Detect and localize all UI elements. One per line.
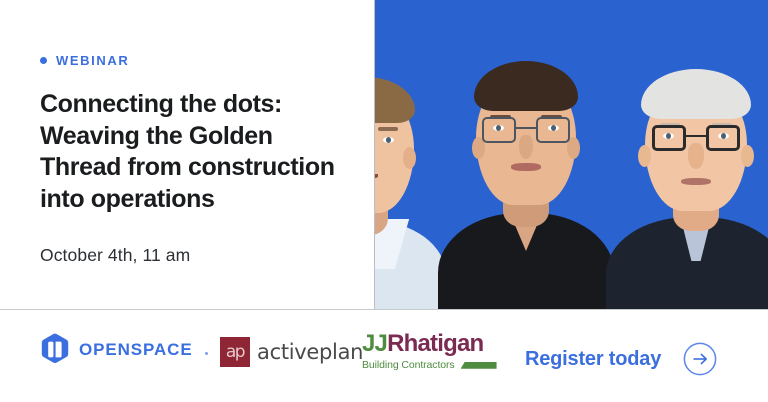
speaker-nose <box>688 143 704 169</box>
speaker-nose <box>519 135 533 159</box>
activeplan-wordmark: activeplan <box>257 342 363 363</box>
headline-line-3: Thread from construction <box>40 152 360 184</box>
speaker-mouth <box>681 178 711 185</box>
speaker-ear-right <box>403 147 416 169</box>
arrow-right-circle-icon[interactable] <box>683 342 717 376</box>
rhatigan-prefix: JJ <box>362 330 387 357</box>
speaker-glasses-left <box>652 125 686 151</box>
speaker-photo-center <box>438 39 614 309</box>
speaker-brow-right <box>378 127 398 131</box>
register-label: Register today <box>525 349 661 369</box>
speaker-photo-panel <box>374 0 768 309</box>
footer-bar: OPENSPACE ap activeplan JJRhatigan Build… <box>0 310 768 402</box>
speaker-eye-right <box>383 137 394 143</box>
hero-section: WEBINAR Connecting the dots: Weaving the… <box>0 0 768 309</box>
speaker-hair <box>474 61 578 111</box>
logo-openspace: OPENSPACE <box>40 333 208 366</box>
headline-line-4: into operations <box>40 184 360 216</box>
hero-text-block: WEBINAR Connecting the dots: Weaving the… <box>40 54 360 266</box>
speaker-hair <box>641 69 751 119</box>
speaker-glasses-bridge <box>686 135 706 137</box>
rhatigan-green-bar-icon <box>461 362 497 369</box>
event-datetime: October 4th, 11 am <box>40 245 360 266</box>
speaker-mouth <box>511 163 541 171</box>
speaker-ear-left <box>638 145 651 167</box>
openspace-wordmark: OPENSPACE <box>79 341 193 358</box>
bullet-dot-icon <box>40 57 47 64</box>
eyebrow-label-group: WEBINAR <box>40 54 360 67</box>
speaker-photo-right <box>606 59 768 309</box>
register-today-button[interactable]: Register today <box>525 342 717 376</box>
speaker-glasses-right <box>536 117 570 143</box>
activeplan-monogram-square: ap <box>220 337 250 367</box>
openspace-hexagon-icon <box>40 333 70 366</box>
speaker-hair <box>374 77 415 123</box>
webinar-promo-banner: WEBINAR Connecting the dots: Weaving the… <box>0 0 768 402</box>
page-title: Connecting the dots: Weaving the Golden … <box>40 89 360 215</box>
speaker-ear-right <box>741 145 754 167</box>
openspace-trademark-dot-icon <box>205 352 209 356</box>
rhatigan-wordmark-row: JJRhatigan <box>362 332 498 356</box>
headline-line-1: Connecting the dots: <box>40 89 360 121</box>
logo-jj-rhatigan: JJRhatigan Building Contractors <box>362 332 498 371</box>
speaker-glasses-right <box>706 125 740 151</box>
photo-panel-edge <box>374 0 375 309</box>
rhatigan-tagline: Building Contractors <box>362 360 455 371</box>
activeplan-monogram: ap <box>226 344 244 361</box>
logo-activeplan: ap activeplan <box>220 337 363 367</box>
headline-line-2: Weaving the Golden <box>40 121 360 153</box>
speaker-photo-left <box>374 69 446 309</box>
speaker-glasses-left <box>482 117 516 143</box>
rhatigan-name: Rhatigan <box>387 330 483 357</box>
speaker-glasses-bridge <box>516 127 536 129</box>
eyebrow-label: WEBINAR <box>56 54 129 67</box>
rhatigan-tagline-row: Building Contractors <box>362 360 498 371</box>
